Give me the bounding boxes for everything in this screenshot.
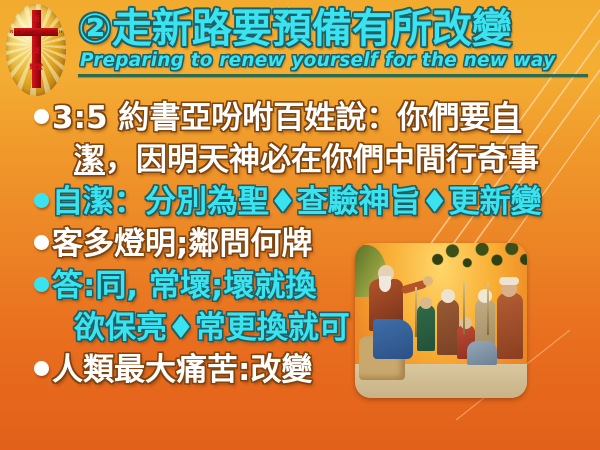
bullet-line-text: 人類最大痛苦:改變 xyxy=(52,348,312,392)
bullet-point-icon xyxy=(34,235,49,250)
slide-title-chinese: ②走新路要預備有所改變 xyxy=(78,6,588,52)
logo-band-text: NEW GLORY CHURCH xyxy=(10,30,62,36)
slide-body-text: 3:5 約書亞吩咐百姓說：你們要自潔，因明天神必在你們中間行奇事自潔：分別為聖♦… xyxy=(34,96,594,392)
bullet-line-text: 自潔：分別為聖♦查驗神旨♦更新變 xyxy=(52,180,542,224)
logo-bottom-character: 耀堂 xyxy=(6,64,66,71)
presentation-slide: 新 NEW GLORY CHURCH 榮 耀堂 ②走新路要預備有所改變 Prep… xyxy=(0,0,600,450)
plain-text: 答:同, 常壞;壞就換 xyxy=(52,268,316,304)
plain-text: 客多燈明;鄰問何牌 xyxy=(52,226,312,262)
bullet-line-text: 潔，因明天神必在你們中間行奇事 xyxy=(52,138,539,182)
bullet-line: 人類最大痛苦:改變 xyxy=(34,348,594,392)
plain-text: 3:5 約書亞吩咐百姓說：你們要 xyxy=(52,100,490,136)
plain-text: 人類最大痛苦:改變 xyxy=(52,352,312,388)
bullet-point-icon xyxy=(34,361,49,376)
logo-top-character: 新 xyxy=(6,16,66,23)
bullet-point-icon xyxy=(34,193,49,208)
bullet-line-text: 答:同, 常壞;壞就換 xyxy=(52,264,316,308)
bullet-spacer xyxy=(34,151,49,166)
bullet-line-text: 欲保亮♦常更換就可 xyxy=(52,306,350,350)
emphasized-text: 潔 xyxy=(74,142,105,178)
bullet-line: 答:同, 常壞;壞就換 xyxy=(34,264,594,308)
plain-text: 欲保亮♦常更換就可 xyxy=(74,310,350,346)
plain-text: 自潔：分別為聖♦查驗神旨♦更新變 xyxy=(52,184,542,220)
bullet-line: 自潔：分別為聖♦查驗神旨♦更新變 xyxy=(34,180,594,224)
bullet-line: 欲保亮♦常更換就可 xyxy=(34,306,594,350)
bullet-line: 潔，因明天神必在你們中間行奇事 xyxy=(34,138,594,182)
bullet-spacer xyxy=(34,319,49,334)
logo-mid-character: 榮 xyxy=(6,48,66,55)
bullet-point-icon xyxy=(34,277,49,292)
logo-oval-background: 新 NEW GLORY CHURCH 榮 耀堂 xyxy=(6,4,66,96)
title-divider-rule xyxy=(78,74,588,77)
church-logo: 新 NEW GLORY CHURCH 榮 耀堂 xyxy=(6,4,66,96)
bullet-line-text: 客多燈明;鄰問何牌 xyxy=(52,222,312,266)
slide-subtitle-english: Preparing to renew yourself for the new … xyxy=(78,50,588,72)
bullet-point-icon xyxy=(34,109,49,124)
plain-text: ，因明天神必在你們中間行奇事 xyxy=(105,142,539,178)
bullet-line: 3:5 約書亞吩咐百姓說：你們要自 xyxy=(34,96,594,140)
title-block: ②走新路要預備有所改變 Preparing to renew yourself … xyxy=(78,6,588,77)
emphasized-text: 自 xyxy=(490,100,521,136)
bullet-line-text: 3:5 約書亞吩咐百姓說：你們要自 xyxy=(52,96,521,140)
bullet-line: 客多燈明;鄰問何牌 xyxy=(34,222,594,266)
